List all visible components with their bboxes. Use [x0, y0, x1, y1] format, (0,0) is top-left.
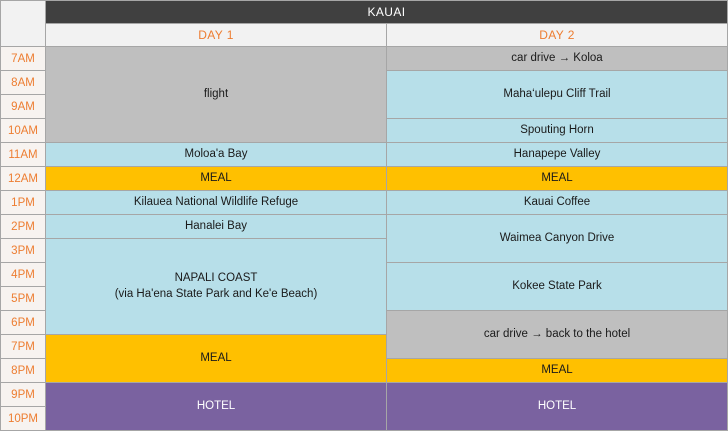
time-label-11am: 11AM — [1, 143, 46, 167]
cell-label: Kauai Coffee — [524, 196, 590, 208]
day-1-meal-cell: MEAL — [46, 335, 387, 383]
time-label-10am: 10AM — [1, 119, 46, 143]
day-1-meal-cell: MEAL — [46, 167, 387, 191]
day-2-meal-cell: MEAL — [387, 167, 728, 191]
cell-sublabel: (via Ha'ena State Park and Ke'e Beach) — [46, 287, 386, 303]
time-label-7pm: 7PM — [1, 335, 46, 359]
cell-label: MEAL — [200, 172, 231, 184]
day-1-activity-cell: Kilauea National Wildlife Refuge — [46, 191, 387, 215]
day-1-activity-cell: Moloa'a Bay — [46, 143, 387, 167]
itinerary-body: KAUAI DAY 1 DAY 2 7AMflightcar drive → K… — [1, 1, 728, 431]
schedule-row: 12AMMEALMEAL — [1, 167, 728, 191]
cell-label: NAPALI COAST — [175, 272, 258, 284]
day-2-activity-cell: Kokee State Park — [387, 263, 728, 311]
day-2-travel-cell: car drive → Koloa — [387, 47, 728, 71]
title-row: KAUAI — [1, 1, 728, 24]
day-2-meal-cell: MEAL — [387, 359, 728, 383]
cell-label: Hanapepe Valley — [514, 148, 601, 160]
cell-label: HOTEL — [197, 400, 235, 412]
cell-label: MEAL — [541, 172, 572, 184]
time-label-9pm: 9PM — [1, 383, 46, 407]
cell-label: flight — [204, 88, 228, 100]
day-2-header: DAY 2 — [387, 24, 728, 47]
schedule-row: 11AMMoloa'a BayHanapepe Valley — [1, 143, 728, 167]
cell-label: Kokee State Park — [512, 280, 602, 292]
day-2-activity-cell: Kauai Coffee — [387, 191, 728, 215]
cell-label: MEAL — [200, 352, 231, 364]
cell-label: Maha‘ulepu Cliff Trail — [503, 88, 610, 100]
time-label-2pm: 2PM — [1, 215, 46, 239]
day-2-travel-cell: car drive → back to the hotel — [387, 311, 728, 359]
schedule-row: 1PMKilauea National Wildlife RefugeKauai… — [1, 191, 728, 215]
cell-label: Moloa'a Bay — [185, 148, 248, 160]
day-2-activity-cell: Spouting Horn — [387, 119, 728, 143]
cell-label: car drive → back to the hotel — [484, 328, 630, 340]
corner-cell — [1, 1, 46, 47]
time-label-3pm: 3PM — [1, 239, 46, 263]
day-2-activity-cell: Hanapepe Valley — [387, 143, 728, 167]
time-label-12am: 12AM — [1, 167, 46, 191]
itinerary-table: KAUAI DAY 1 DAY 2 7AMflightcar drive → K… — [0, 0, 728, 431]
schedule-row: 7AMflightcar drive → Koloa — [1, 47, 728, 71]
day-2-activity-cell: Maha‘ulepu Cliff Trail — [387, 71, 728, 119]
cell-label: Spouting Horn — [520, 124, 594, 136]
day-1-activity-cell: Hanalei Bay — [46, 215, 387, 239]
time-label-6pm: 6PM — [1, 311, 46, 335]
day-2-activity-cell: Waimea Canyon Drive — [387, 215, 728, 263]
day-1-header: DAY 1 — [46, 24, 387, 47]
cell-label: Waimea Canyon Drive — [500, 232, 615, 244]
schedule-row: 9PMHOTELHOTEL — [1, 383, 728, 407]
cell-label: car drive → Koloa — [511, 52, 602, 64]
time-label-9am: 9AM — [1, 95, 46, 119]
time-label-8pm: 8PM — [1, 359, 46, 383]
cell-label: MEAL — [541, 364, 572, 376]
day-1-hotel-cell: HOTEL — [46, 383, 387, 431]
time-label-1pm: 1PM — [1, 191, 46, 215]
day-1-travel-cell: flight — [46, 47, 387, 143]
day-1-activity-cell: NAPALI COAST(via Ha'ena State Park and K… — [46, 239, 387, 335]
time-label-4pm: 4PM — [1, 263, 46, 287]
day-header-row: DAY 1 DAY 2 — [1, 24, 728, 47]
time-label-7am: 7AM — [1, 47, 46, 71]
table-title: KAUAI — [46, 1, 728, 24]
cell-label: Kilauea National Wildlife Refuge — [134, 196, 298, 208]
day-2-hotel-cell: HOTEL — [387, 383, 728, 431]
time-label-8am: 8AM — [1, 71, 46, 95]
time-label-10pm: 10PM — [1, 407, 46, 431]
cell-label: HOTEL — [538, 400, 576, 412]
cell-label: Hanalei Bay — [185, 220, 247, 232]
time-label-5pm: 5PM — [1, 287, 46, 311]
schedule-row: 2PMHanalei BayWaimea Canyon Drive — [1, 215, 728, 239]
